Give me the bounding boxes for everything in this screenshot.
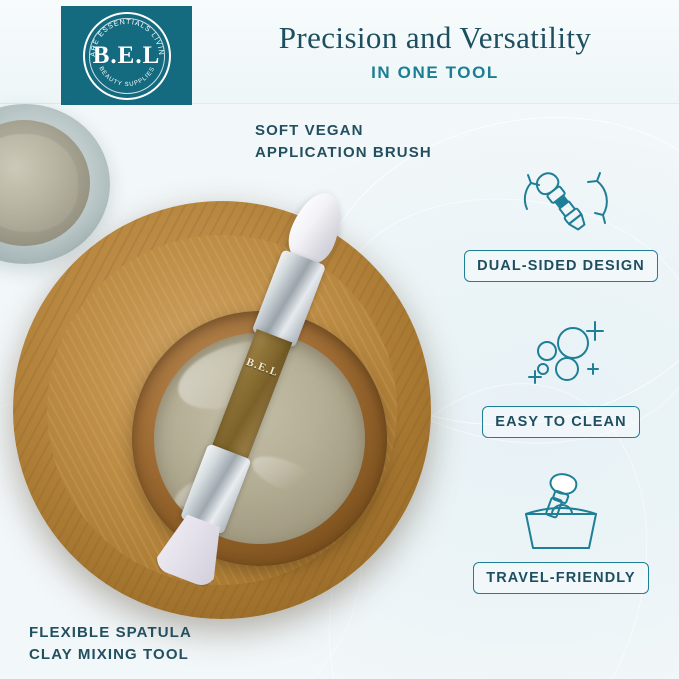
page-subtitle: IN ONE TOOL: [200, 63, 670, 83]
svg-text:BARE ESSENTIALS LIVING: BARE ESSENTIALS LIVING: [85, 14, 164, 57]
feature-label-travel-friendly: TRAVEL-FRIENDLY: [473, 562, 648, 594]
clay-powder-bowl: [0, 104, 110, 264]
brush-callout-line2: APPLICATION BRUSH: [255, 142, 432, 164]
logo-arc-text: BARE ESSENTIALS LIVING BEAUTY SUPPLIES: [85, 14, 169, 98]
clay-powder-heap: [0, 134, 78, 232]
header-title-block: Precision and Versatility IN ONE TOOL: [200, 20, 670, 83]
feature-easy-to-clean: EASY TO CLEAN: [455, 316, 667, 438]
brand-logo: BARE ESSENTIALS LIVING BEAUTY SUPPLIES B…: [61, 6, 192, 105]
clay-highlight: [247, 449, 322, 501]
svg-text:BEAUTY SUPPLIES: BEAUTY SUPPLIES: [97, 65, 156, 87]
spatula-callout-label: FLEXIBLE SPATULA CLAY MIXING TOOL: [29, 622, 192, 666]
feature-label-dual-sided: DUAL-SIDED DESIGN: [464, 250, 658, 282]
wooden-board-inner: [47, 235, 397, 585]
page-title: Precision and Versatility: [200, 20, 670, 56]
brush-callout-label: SOFT VEGAN APPLICATION BRUSH: [255, 120, 432, 164]
logo-circle: BARE ESSENTIALS LIVING BEAUTY SUPPLIES B…: [83, 12, 171, 100]
dual-sided-brush-rotate-icon: [501, 160, 621, 242]
feature-list: DUAL-SIDED DESIGN EASY TO CLEAN: [455, 160, 667, 598]
clay-highlight: [170, 333, 303, 422]
wooden-clay-bowl: [132, 311, 387, 566]
product-infographic: BARE ESSENTIALS LIVING BEAUTY SUPPLIES B…: [0, 0, 679, 679]
mixed-clay-mask: [154, 333, 365, 544]
feature-dual-sided-design: DUAL-SIDED DESIGN: [455, 160, 667, 282]
header-banner: BARE ESSENTIALS LIVING BEAUTY SUPPLIES B…: [0, 0, 679, 104]
brush-in-pouch-icon: [496, 472, 626, 554]
spatula-callout-line1: FLEXIBLE SPATULA: [29, 622, 192, 644]
clay-highlight: [170, 473, 218, 512]
bubbles-sparkle-icon: [501, 316, 621, 398]
feature-travel-friendly: TRAVEL-FRIENDLY: [455, 472, 667, 594]
brush-callout-line1: SOFT VEGAN: [255, 120, 432, 142]
feature-label-easy-to-clean: EASY TO CLEAN: [482, 406, 639, 438]
spatula-callout-line2: CLAY MIXING TOOL: [29, 644, 192, 666]
wooden-board: [13, 201, 431, 619]
